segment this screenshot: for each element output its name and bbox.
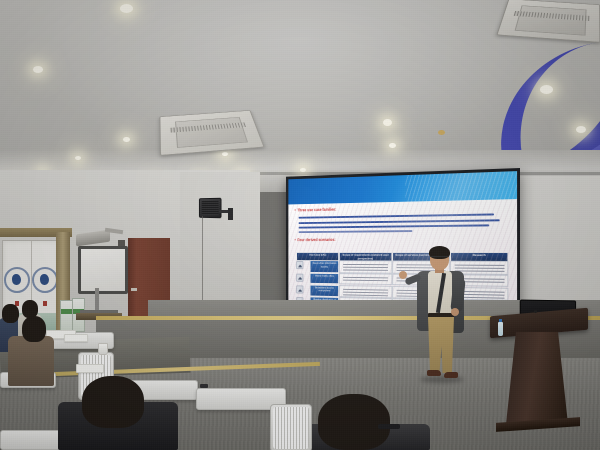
handout-papers	[76, 364, 104, 373]
slide-bullet-1: Three use case families:	[295, 207, 337, 212]
downlight-icon	[540, 85, 553, 94]
presenter-trousers	[428, 317, 454, 373]
slide-subtext-line	[299, 219, 500, 224]
presenter-hand-right	[451, 308, 459, 316]
table-cell	[339, 261, 392, 274]
bottle-cap	[499, 319, 502, 322]
slide-subtext-line	[299, 214, 495, 219]
table-row-label: Broadband access everywhere	[310, 284, 339, 297]
attendee-head	[2, 304, 19, 323]
row-label-text: Deep urban information society	[311, 261, 338, 268]
downlight-icon	[383, 119, 392, 126]
presenter-shoe-left	[427, 370, 441, 376]
downlight-icon	[222, 152, 228, 156]
smartphone	[200, 384, 208, 388]
handout-papers	[64, 334, 88, 342]
chair-back-slats	[273, 407, 309, 449]
scenario-icon	[297, 261, 304, 269]
ink-medallion-icon	[4, 267, 30, 293]
downlight-icon	[75, 156, 81, 160]
table-cell	[339, 273, 392, 285]
podium	[490, 312, 588, 430]
paper-cup	[98, 343, 108, 355]
slide-subtext-line	[299, 224, 490, 228]
row-label-text: Broadband access everywhere	[311, 285, 338, 293]
speaker-bracket-post	[228, 208, 233, 220]
slide-subtext-line	[299, 231, 413, 234]
downlight-icon	[120, 4, 133, 13]
attendee-glasses-icon	[378, 424, 400, 429]
ac-inner-panel	[175, 117, 247, 148]
speaker-grill	[202, 201, 219, 215]
downlight-icon	[576, 126, 586, 133]
table-header-label: Use Case (UC)	[297, 253, 338, 257]
table-cell	[339, 285, 392, 298]
table-row-label: Deep urban information society	[310, 260, 339, 272]
water-bottle	[498, 322, 503, 336]
lecture-hall-photo: 6G通信的应用场景和要求 Three use case families: Fo…	[0, 0, 600, 450]
ac-cassette-unit	[496, 0, 600, 43]
ac-inner-panel	[515, 5, 586, 35]
scenario-icon	[297, 285, 304, 293]
downlight-icon	[33, 66, 43, 73]
table-row-label: Mixed-reality office	[310, 273, 339, 285]
slide-bullet-2: Four derived scenarios:	[295, 237, 336, 242]
podium-body	[506, 332, 568, 424]
attendee-head-foreground	[82, 376, 144, 428]
presenter-hand-left	[399, 271, 407, 279]
whiteboard	[78, 246, 128, 294]
downlight-icon	[389, 143, 396, 148]
scenario-icon	[297, 273, 304, 281]
chair[interactable]	[270, 404, 312, 450]
attendee-torso	[8, 336, 54, 386]
door-handle[interactable]	[131, 288, 137, 291]
whiteboard-stand	[95, 288, 99, 312]
downlight-icon	[123, 137, 130, 142]
row-label-text: Mixed-reality office	[311, 274, 338, 278]
attendee-head	[22, 316, 46, 342]
presenter-shoe-right	[444, 372, 458, 378]
attendee-head-foreground	[318, 394, 390, 450]
podium-microphone-icon	[534, 310, 537, 313]
smoke-detector-icon	[438, 130, 445, 135]
seal-stamp-icon	[43, 301, 47, 306]
presenter	[406, 248, 472, 388]
ink-medallion-icon	[32, 267, 58, 293]
presenter-glasses-icon	[431, 256, 448, 261]
